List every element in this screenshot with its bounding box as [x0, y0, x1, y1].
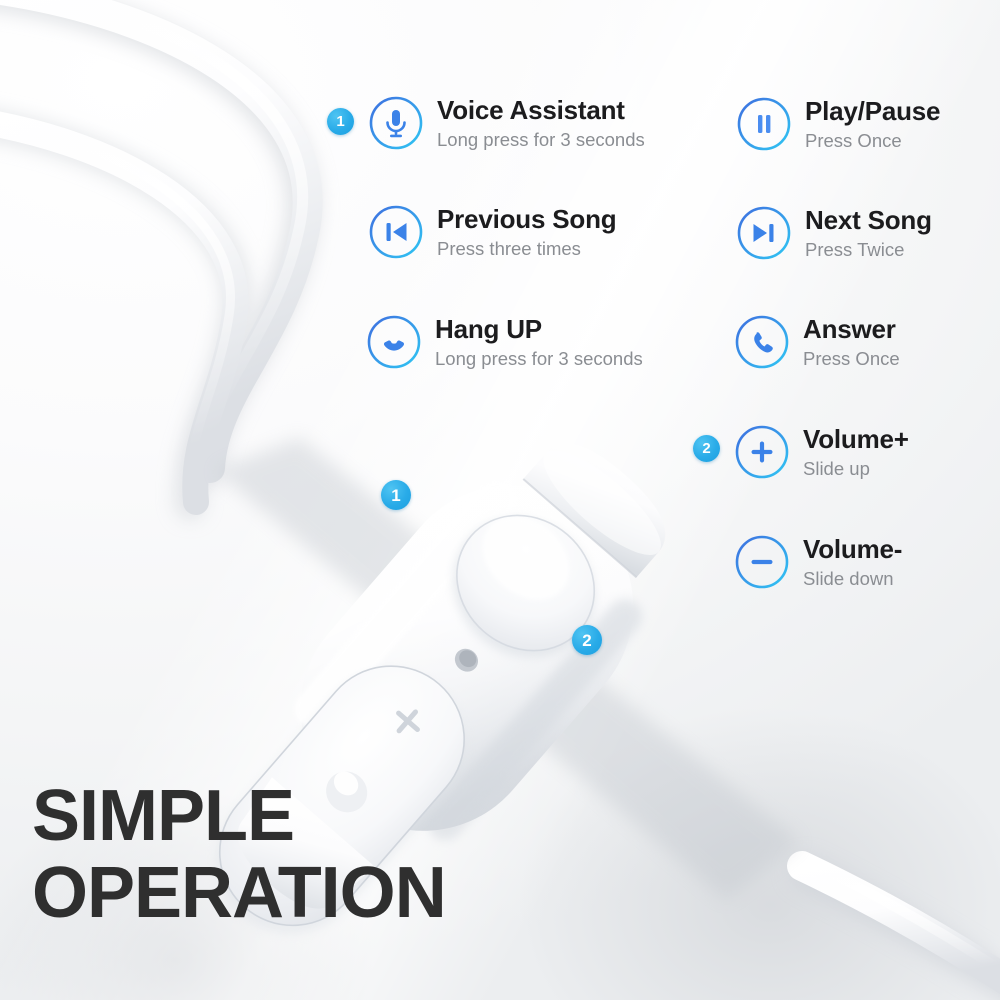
feature-hang-up: Hang UP Long press for 3 seconds: [366, 314, 643, 370]
feature-next-song: Next Song Press Twice: [736, 205, 932, 261]
feature-title: Play/Pause: [805, 97, 940, 125]
minus-icon: [734, 534, 790, 590]
previous-track-icon: [368, 204, 424, 260]
next-track-icon: [736, 205, 792, 261]
phone-answer-icon: [734, 314, 790, 370]
feature-title: Volume+: [803, 425, 909, 453]
feature-title: Volume-: [803, 535, 902, 563]
feature-badge-1: 1: [327, 108, 354, 135]
headline-line-1: SIMPLE: [32, 782, 446, 851]
feature-title: Voice Assistant: [437, 96, 645, 124]
feature-title: Previous Song: [437, 205, 616, 233]
infographic-canvas: 1 2 Voice Assistant Long press for 3 sec…: [0, 0, 1000, 1000]
feature-play-pause: Play/Pause Press Once: [736, 96, 940, 152]
feature-voice-assistant: Voice Assistant Long press for 3 seconds: [368, 95, 645, 151]
feature-subtitle: Press three times: [437, 239, 616, 259]
feature-previous-song: Previous Song Press three times: [368, 204, 616, 260]
feature-title: Hang UP: [435, 315, 643, 343]
plus-icon: [734, 424, 790, 480]
product-marker-1: 1: [381, 480, 411, 510]
feature-title: Next Song: [805, 206, 932, 234]
feature-subtitle: Press Twice: [805, 240, 932, 260]
headline-line-2: OPERATION: [32, 859, 446, 928]
product-marker-2: 2: [572, 625, 602, 655]
pause-icon: [736, 96, 792, 152]
feature-answer: Answer Press Once: [734, 314, 900, 370]
hang-up-icon: [366, 314, 422, 370]
feature-subtitle: Slide down: [803, 569, 902, 589]
feature-volume-up: Volume+ Slide up: [734, 424, 909, 480]
feature-volume-down: Volume- Slide down: [734, 534, 902, 590]
feature-subtitle: Press Once: [803, 349, 900, 369]
microphone-icon: [368, 95, 424, 151]
feature-title: Answer: [803, 315, 900, 343]
feature-subtitle: Long press for 3 seconds: [437, 130, 645, 150]
feature-subtitle: Slide up: [803, 459, 909, 479]
feature-subtitle: Press Once: [805, 131, 940, 151]
feature-subtitle: Long press for 3 seconds: [435, 349, 643, 369]
headline: SIMPLE OPERATION: [32, 782, 446, 928]
feature-badge-2: 2: [693, 435, 720, 462]
